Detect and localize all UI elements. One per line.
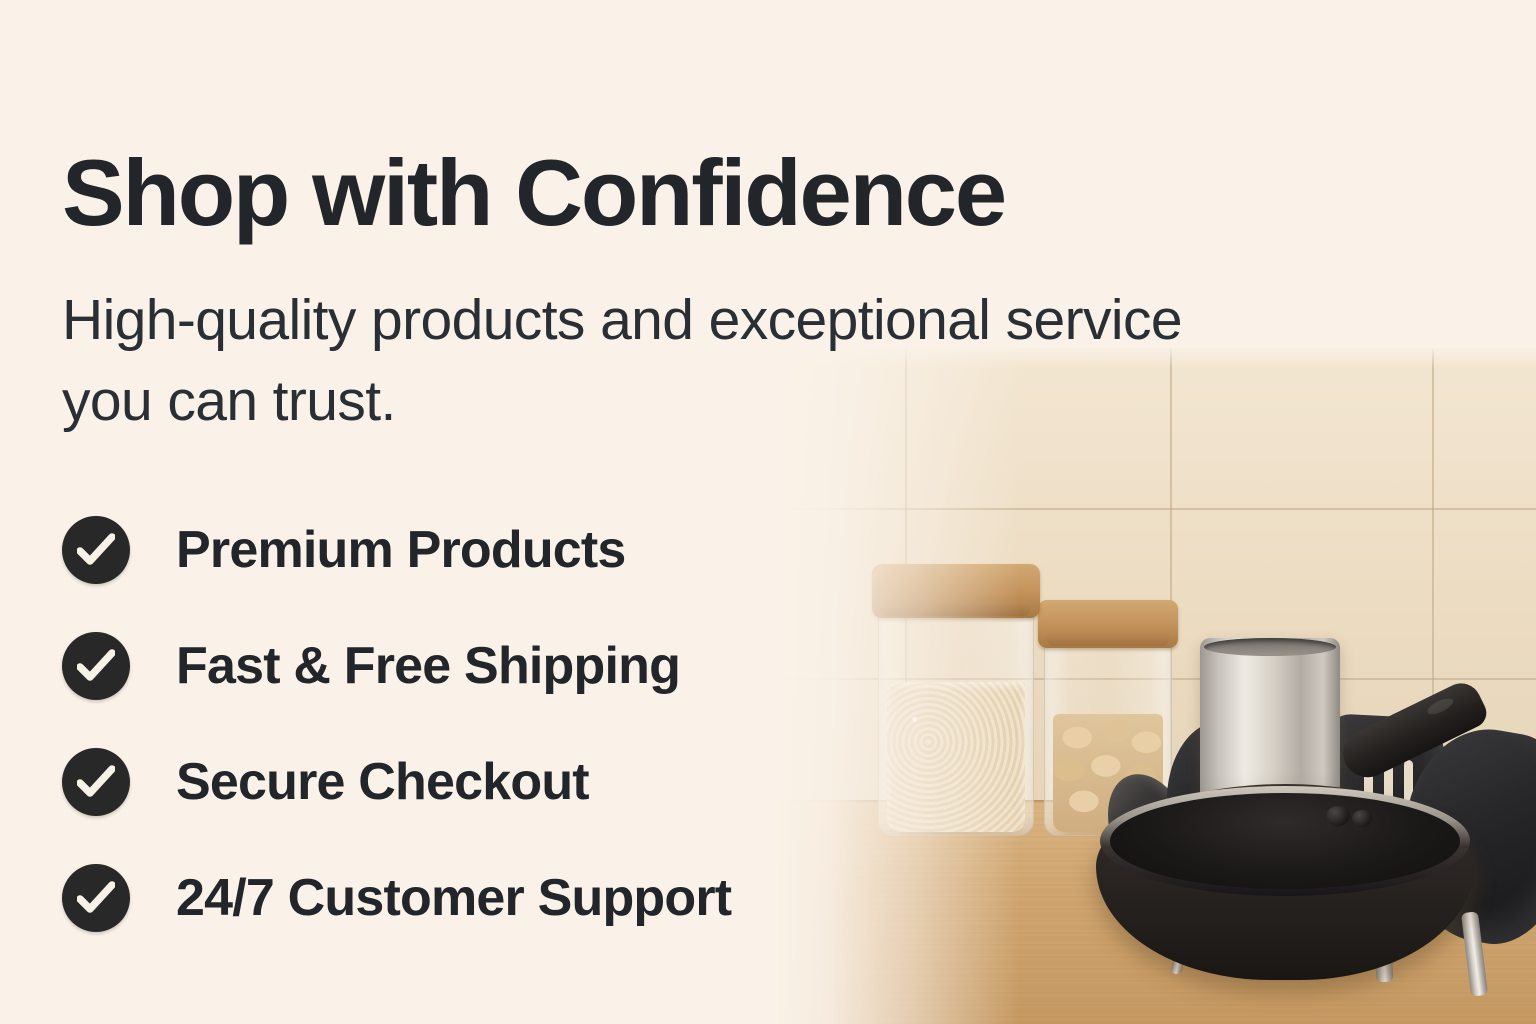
feature-label: 24/7 Customer Support — [176, 868, 731, 928]
check-icon — [62, 516, 130, 584]
feature-label: Fast & Free Shipping — [176, 636, 680, 696]
black-frying-pan — [1096, 784, 1474, 1004]
feature-label: Secure Checkout — [176, 752, 589, 812]
feature-label: Premium Products — [176, 520, 626, 580]
photo-left-fade — [700, 348, 1020, 1024]
feature-list: Premium Products Fast & Free Shipping Se… — [62, 492, 731, 956]
subheading: High-quality products and exceptional se… — [62, 280, 1182, 442]
list-item: Secure Checkout — [62, 724, 731, 840]
jar-lid-wood — [1038, 600, 1178, 648]
list-item: 24/7 Customer Support — [62, 840, 731, 956]
page-title: Shop with Confidence — [62, 146, 1005, 240]
pan-rivet — [1352, 810, 1372, 827]
list-item: Premium Products — [62, 492, 731, 608]
kitchen-product-photo — [700, 348, 1536, 1024]
pan-rivet — [1326, 806, 1350, 826]
check-icon — [62, 864, 130, 932]
check-icon — [62, 748, 130, 816]
shop-with-confidence-banner: Shop with Confidence High-quality produc… — [0, 0, 1536, 1024]
list-item: Fast & Free Shipping — [62, 608, 731, 724]
check-icon — [62, 632, 130, 700]
